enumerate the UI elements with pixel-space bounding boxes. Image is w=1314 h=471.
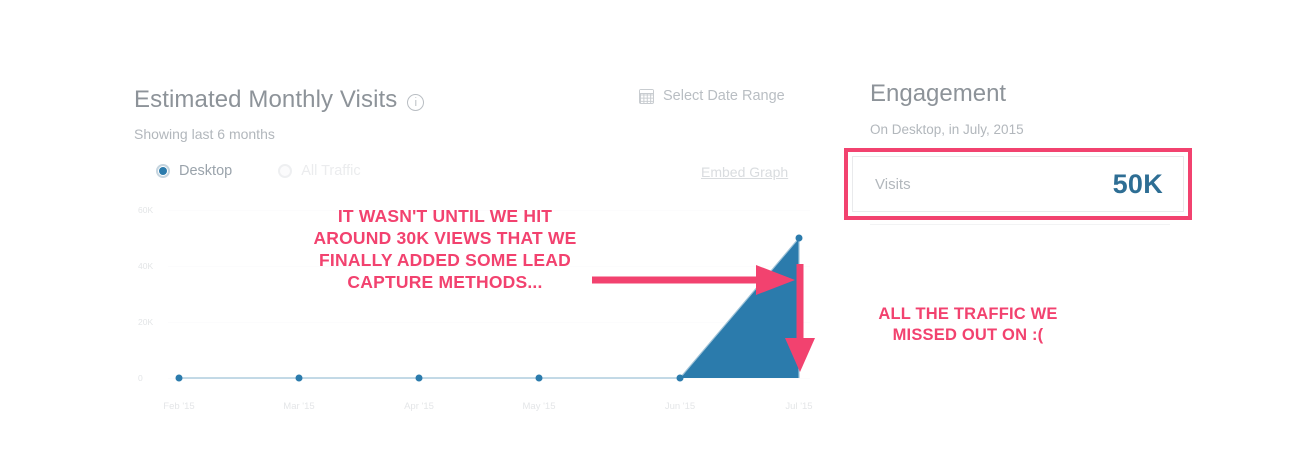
y-tick-label: 60K bbox=[138, 205, 164, 215]
engagement-subtitle: On Desktop, in July, 2015 bbox=[870, 122, 1230, 137]
radio-desktop[interactable] bbox=[156, 164, 170, 178]
radio-all-traffic[interactable] bbox=[278, 164, 292, 178]
x-tick-label: Feb '15 bbox=[163, 401, 194, 412]
x-tick-label: May '15 bbox=[523, 401, 556, 412]
y-tick-label: 0 bbox=[138, 373, 164, 383]
data-point bbox=[536, 375, 543, 382]
annotation-text-right: ALL THE TRAFFIC WE MISSED OUT ON :( bbox=[848, 304, 1088, 346]
legend-label-all-traffic: All Traffic bbox=[301, 163, 360, 179]
chart-subtitle: Showing last 6 months bbox=[134, 126, 275, 142]
x-tick-label: Apr '15 bbox=[404, 401, 434, 412]
x-tick-label: Mar '15 bbox=[283, 401, 314, 412]
traffic-source-legend: Desktop All Traffic bbox=[156, 163, 361, 179]
data-point bbox=[796, 235, 803, 242]
x-tick-label: Jul '15 bbox=[785, 401, 812, 412]
annotation-text-left: IT WASN'T UNTIL WE HIT AROUND 30K VIEWS … bbox=[300, 205, 590, 293]
legend-label-desktop: Desktop bbox=[179, 163, 232, 179]
embed-graph-link[interactable]: Embed Graph bbox=[701, 164, 788, 180]
engagement-title: Engagement bbox=[870, 80, 1230, 108]
data-point bbox=[416, 375, 423, 382]
visits-metric-value: 50K bbox=[1113, 169, 1163, 200]
legend-item-desktop[interactable]: Desktop bbox=[156, 163, 232, 179]
data-point bbox=[296, 375, 303, 382]
arrow-right-icon bbox=[590, 262, 805, 298]
legend-item-all-traffic[interactable]: All Traffic bbox=[278, 163, 360, 179]
x-tick-label: Jun '15 bbox=[665, 401, 695, 412]
select-date-range-button[interactable]: Select Date Range bbox=[639, 88, 785, 104]
info-icon[interactable] bbox=[407, 94, 424, 111]
visits-metric-label: Visits bbox=[875, 176, 911, 193]
calendar-icon bbox=[639, 89, 654, 104]
engagement-panel: Engagement On Desktop, in July, 2015 bbox=[870, 80, 1230, 137]
data-point bbox=[176, 375, 183, 382]
data-point bbox=[677, 375, 684, 382]
arrow-down-icon bbox=[780, 262, 820, 374]
visits-metric-row: Visits 50K bbox=[852, 156, 1184, 212]
y-tick-label: 40K bbox=[138, 261, 164, 271]
chart-header: Estimated Monthly Visits bbox=[134, 86, 424, 114]
page-title: Estimated Monthly Visits bbox=[134, 86, 397, 114]
select-date-range-label: Select Date Range bbox=[663, 88, 785, 104]
y-tick-label: 20K bbox=[138, 317, 164, 327]
metric-row-divider bbox=[870, 224, 1170, 235]
visits-metric-highlight: Visits 50K bbox=[844, 148, 1192, 220]
